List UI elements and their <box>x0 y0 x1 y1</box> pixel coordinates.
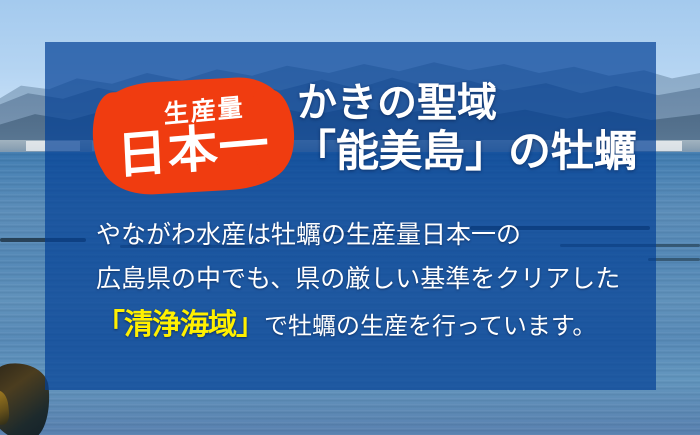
promo-banner: 生産量 日本一 かきの聖域 「能美島」の牡蠣 やながわ水産は牡蠣の生産量日本一の… <box>0 0 700 435</box>
body-line-3-highlight: 「清浄海域」 <box>96 307 264 341</box>
foreground-rock-highlight <box>0 390 10 426</box>
headline-line-2: 「能美島」の牡蠣 <box>293 127 647 178</box>
badge-text-group: 生産量 日本一 <box>96 75 290 197</box>
body-line-3-rest: で牡蠣の生産を行っています。 <box>264 312 596 340</box>
body-line-3: 「清浄海域」で牡蠣の生産を行っています。 <box>96 310 626 339</box>
headline: かきの聖域 「能美島」の牡蠣 <box>297 79 647 178</box>
badge-big-text: 日本一 <box>115 119 270 182</box>
body-copy: やながわ水産は牡蠣の生産量日本一の 広島県の中でも、県の厳しい基準をクリアした … <box>96 222 626 339</box>
nihonichi-badge: 生産量 日本一 <box>96 75 290 197</box>
body-line-2: 広島県の中でも、県の厳しい基準をクリアした <box>96 266 626 291</box>
body-line-1: やながわ水産は牡蠣の生産量日本一の <box>96 222 626 247</box>
headline-line-1: かきの聖域 <box>297 79 647 126</box>
